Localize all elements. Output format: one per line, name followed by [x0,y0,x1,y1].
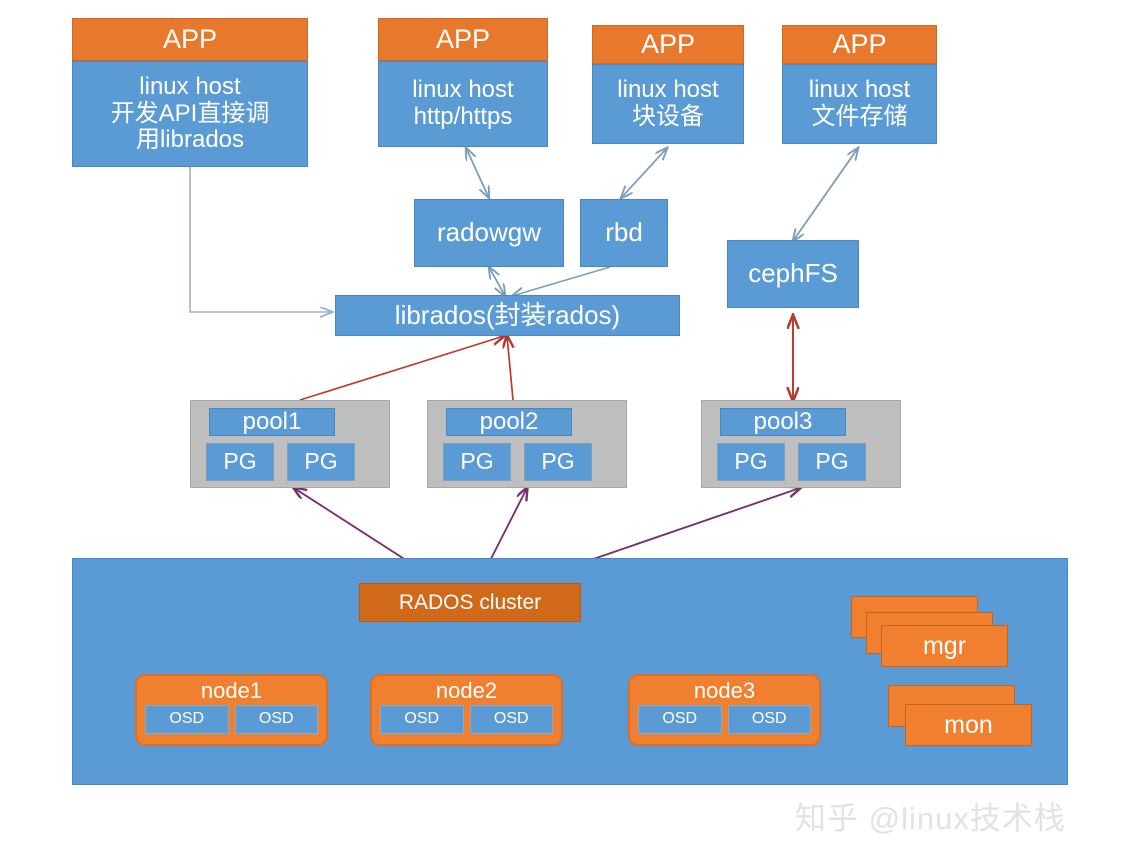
pool-3-pg-1-label: PG [734,449,767,475]
edge-app4-cephfs [793,148,858,241]
node-3-osd-1[interactable]: OSD [638,705,722,734]
diagram-canvas: APP linux host 开发API直接调 用librados APP li… [0,0,1133,847]
pool-3-pg-2-label: PG [815,449,848,475]
app-2-header[interactable]: APP [378,18,548,61]
service-librados[interactable]: librados(封装rados) [335,295,680,336]
node-2-label: node2 [372,678,561,703]
pool-group-1[interactable]: pool1 PG PG [190,400,390,488]
app-2-header-label: APP [436,24,490,54]
service-radowgw[interactable]: radowgw [414,199,564,267]
node-2[interactable]: node2 OSD OSD [370,674,563,746]
app-3-body-label: linux host 块设备 [617,77,718,131]
service-radowgw-label: radowgw [437,218,541,247]
pool-1-pg-1[interactable]: PG [206,443,274,481]
pool-2-pg-1-label: PG [460,449,493,475]
pool-2-pg-2[interactable]: PG [524,443,592,481]
pool-group-2[interactable]: pool2 PG PG [427,400,627,488]
app-1-body-label: linux host 开发API直接调 用librados [111,74,270,155]
node-2-osd-2[interactable]: OSD [470,705,554,734]
app-4-header-label: APP [832,29,886,59]
app-1-header[interactable]: APP [72,18,308,61]
edge-pool2-librados [507,336,513,400]
app-4-body[interactable]: linux host 文件存储 [782,64,937,144]
pool-1-title[interactable]: pool1 [209,408,335,436]
mon-label: mon [944,711,993,739]
app-4-body-label: linux host 文件存储 [809,77,910,131]
pool-group-3[interactable]: pool3 PG PG [701,400,901,488]
node-2-osd-1[interactable]: OSD [380,705,464,734]
rados-cluster-box[interactable]: RADOS cluster [359,583,581,622]
watermark: 知乎 @linux技术栈 [795,793,1066,838]
mon-card-front[interactable]: mon [905,704,1032,746]
app-1-header-label: APP [163,24,217,54]
node-1-osd-1[interactable]: OSD [145,705,229,734]
mgr-label: mgr [923,632,966,660]
pool-2-title-label: pool2 [480,409,539,436]
app-2-body[interactable]: linux host http/https [378,61,548,147]
service-rbd-label: rbd [605,218,643,247]
pool-3-title[interactable]: pool3 [720,408,846,436]
node-3-label: node3 [630,678,819,703]
pool-3-title-label: pool3 [754,409,813,436]
service-cephfs-label: cephFS [748,259,838,288]
node-1-label: node1 [137,678,326,703]
node-1-osd-2[interactable]: OSD [235,705,319,734]
edge-app3-rbd [621,148,667,198]
pool-2-title[interactable]: pool2 [446,408,572,436]
app-1-body[interactable]: linux host 开发API直接调 用librados [72,61,308,167]
edge-app2-radowgw [466,148,489,198]
pool-2-pg-1[interactable]: PG [443,443,511,481]
service-rbd[interactable]: rbd [580,199,668,267]
service-cephfs[interactable]: cephFS [727,240,859,308]
rados-cluster-label: RADOS cluster [399,591,541,615]
node-3-osd-list: OSD OSD [630,703,819,740]
pool-1-title-label: pool1 [243,409,302,436]
pool-3-pg-2[interactable]: PG [798,443,866,481]
node-3[interactable]: node3 OSD OSD [628,674,821,746]
node-1[interactable]: node1 OSD OSD [135,674,328,746]
edge-pool1-librados [300,336,504,400]
app-2-body-label: linux host http/https [412,77,513,131]
pool-1-pg-1-label: PG [223,449,256,475]
edge-radowgw-librados [489,267,505,296]
pool-1-pg-2-label: PG [304,449,337,475]
pool-2-pg-2-label: PG [541,449,574,475]
app-3-header[interactable]: APP [592,25,744,64]
mgr-card-front[interactable]: mgr [881,625,1008,667]
edge-rbd-librados [512,267,610,296]
node-1-osd-list: OSD OSD [137,703,326,740]
app-3-body[interactable]: linux host 块设备 [592,64,744,144]
node-3-osd-2[interactable]: OSD [728,705,812,734]
app-4-header[interactable]: APP [782,25,937,64]
edge-app1-to-librados [190,167,332,312]
app-3-header-label: APP [641,29,695,59]
pool-1-pg-2[interactable]: PG [287,443,355,481]
pool-3-pg-1[interactable]: PG [717,443,785,481]
service-librados-label: librados(封装rados) [395,301,620,330]
node-2-osd-list: OSD OSD [372,703,561,740]
